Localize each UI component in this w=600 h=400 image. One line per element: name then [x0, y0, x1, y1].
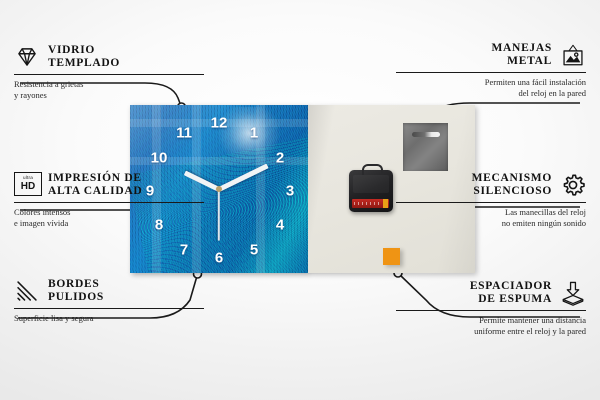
feature-description-line-2: uniforme entre el reloj y la pared: [396, 326, 586, 337]
gear-icon: [560, 172, 586, 198]
feature-divider: [14, 74, 204, 75]
feature-title-line-1: VIDRIO: [48, 44, 120, 57]
clock-numeral-5: 5: [250, 243, 258, 258]
feature-divider: [396, 72, 586, 73]
feature-polished-edges: BORDES PULIDOS Superficie lisa y segura: [14, 278, 204, 324]
arrow-down-layer-icon: [560, 280, 586, 306]
feature-header: ultra HD IMPRESIÓN DE ALTA CALIDAD: [14, 172, 204, 198]
clock-numeral-6: 6: [215, 251, 223, 266]
feature-title: VIDRIO TEMPLADO: [48, 44, 120, 70]
feature-header: BORDES PULIDOS: [14, 278, 204, 304]
feature-description: Superficie lisa y segura: [14, 313, 204, 324]
feature-title-line-2: PULIDOS: [48, 291, 104, 304]
feature-title: MECANISMO SILENCIOSO: [472, 172, 552, 198]
feature-description-line-1: Las manecillas del reloj: [396, 207, 586, 218]
feature-header: VIDRIO TEMPLADO: [14, 44, 204, 70]
feature-title-line-1: MANEJAS: [492, 42, 553, 55]
product-infographic: 12 1 2 3 4 5 6 7 8 9 10 11: [0, 0, 600, 400]
feature-title-line-2: ALTA CALIDAD: [48, 185, 142, 198]
diamond-icon: [14, 44, 40, 70]
feature-description: Permiten una fácil instalación del reloj…: [396, 77, 586, 98]
feature-header: MANEJAS METAL: [396, 42, 586, 68]
feature-description-line-2: e imagen vívida: [14, 218, 204, 229]
feature-silent-movement: MECANISMO SILENCIOSO Las manecillas del …: [396, 172, 586, 228]
feature-title-line-2: METAL: [492, 55, 553, 68]
feature-divider: [14, 202, 204, 203]
feature-divider: [396, 310, 586, 311]
feature-title: ESPACIADOR DE ESPUMA: [470, 280, 552, 306]
feature-title-line-2: DE ESPUMA: [470, 293, 552, 306]
ultra-hd-icon: ultra HD: [14, 172, 40, 198]
feature-description: Resistencia a grietas y rayones: [14, 79, 204, 100]
feature-foam-spacer: ESPACIADOR DE ESPUMA Permite mantener un…: [396, 280, 586, 336]
feature-title-line-1: IMPRESIÓN DE: [48, 172, 142, 185]
feature-title-line-1: ESPACIADOR: [470, 280, 552, 293]
feature-description: Permite mantener una distancia uniforme …: [396, 315, 586, 336]
picture-frame-icon: [560, 42, 586, 68]
clock-numeral-4: 4: [276, 218, 284, 233]
feature-title: BORDES PULIDOS: [48, 278, 104, 304]
feature-description-line-1: Superficie lisa y segura: [14, 313, 204, 324]
feature-metal-hangers: MANEJAS METAL Permiten una fácil instala…: [396, 42, 586, 98]
feature-hd-print: ultra HD IMPRESIÓN DE ALTA CALIDAD Color…: [14, 172, 204, 228]
ultra-hd-icon-big-text: HD: [21, 182, 35, 192]
feature-title: MANEJAS METAL: [492, 42, 553, 68]
feature-title-line-2: TEMPLADO: [48, 57, 120, 70]
clock-numeral-2: 2: [276, 151, 284, 166]
clock-second-hand: [218, 189, 220, 241]
feature-description-line-1: Resistencia a grietas: [14, 79, 204, 90]
feature-divider: [396, 202, 586, 203]
feature-description-line-2: no emiten ningún sonido: [396, 218, 586, 229]
clock-numeral-10: 10: [151, 151, 168, 166]
feature-description: Colores intensos e imagen vívida: [14, 207, 204, 228]
feature-description-line-2: y rayones: [14, 90, 204, 101]
clock-center-cap: [216, 186, 222, 192]
feature-header: MECANISMO SILENCIOSO: [396, 172, 586, 198]
feature-title: IMPRESIÓN DE ALTA CALIDAD: [48, 172, 142, 198]
clock-numeral-1: 1: [250, 126, 258, 141]
feature-description: Las manecillas del reloj no emiten ningú…: [396, 207, 586, 228]
feature-tempered-glass: VIDRIO TEMPLADO Resistencia a grietas y …: [14, 44, 204, 100]
feature-description-line-1: Permiten una fácil instalación: [396, 77, 586, 88]
feature-description-line-1: Permite mantener una distancia: [396, 315, 586, 326]
diagonal-lines-icon: [14, 278, 40, 304]
feature-divider: [14, 308, 204, 309]
clock-numeral-7: 7: [180, 243, 188, 258]
feature-title-line-1: MECANISMO: [472, 172, 552, 185]
feature-title-line-1: BORDES: [48, 278, 104, 291]
feature-description-line-1: Colores intensos: [14, 207, 204, 218]
clock-numeral-11: 11: [176, 126, 192, 141]
feature-header: ESPACIADOR DE ESPUMA: [396, 280, 586, 306]
clock-numeral-12: 12: [211, 116, 228, 131]
clock-numeral-3: 3: [286, 184, 294, 199]
feature-title-line-2: SILENCIOSO: [472, 185, 552, 198]
feature-description-line-2: del reloj en la pared: [396, 88, 586, 99]
